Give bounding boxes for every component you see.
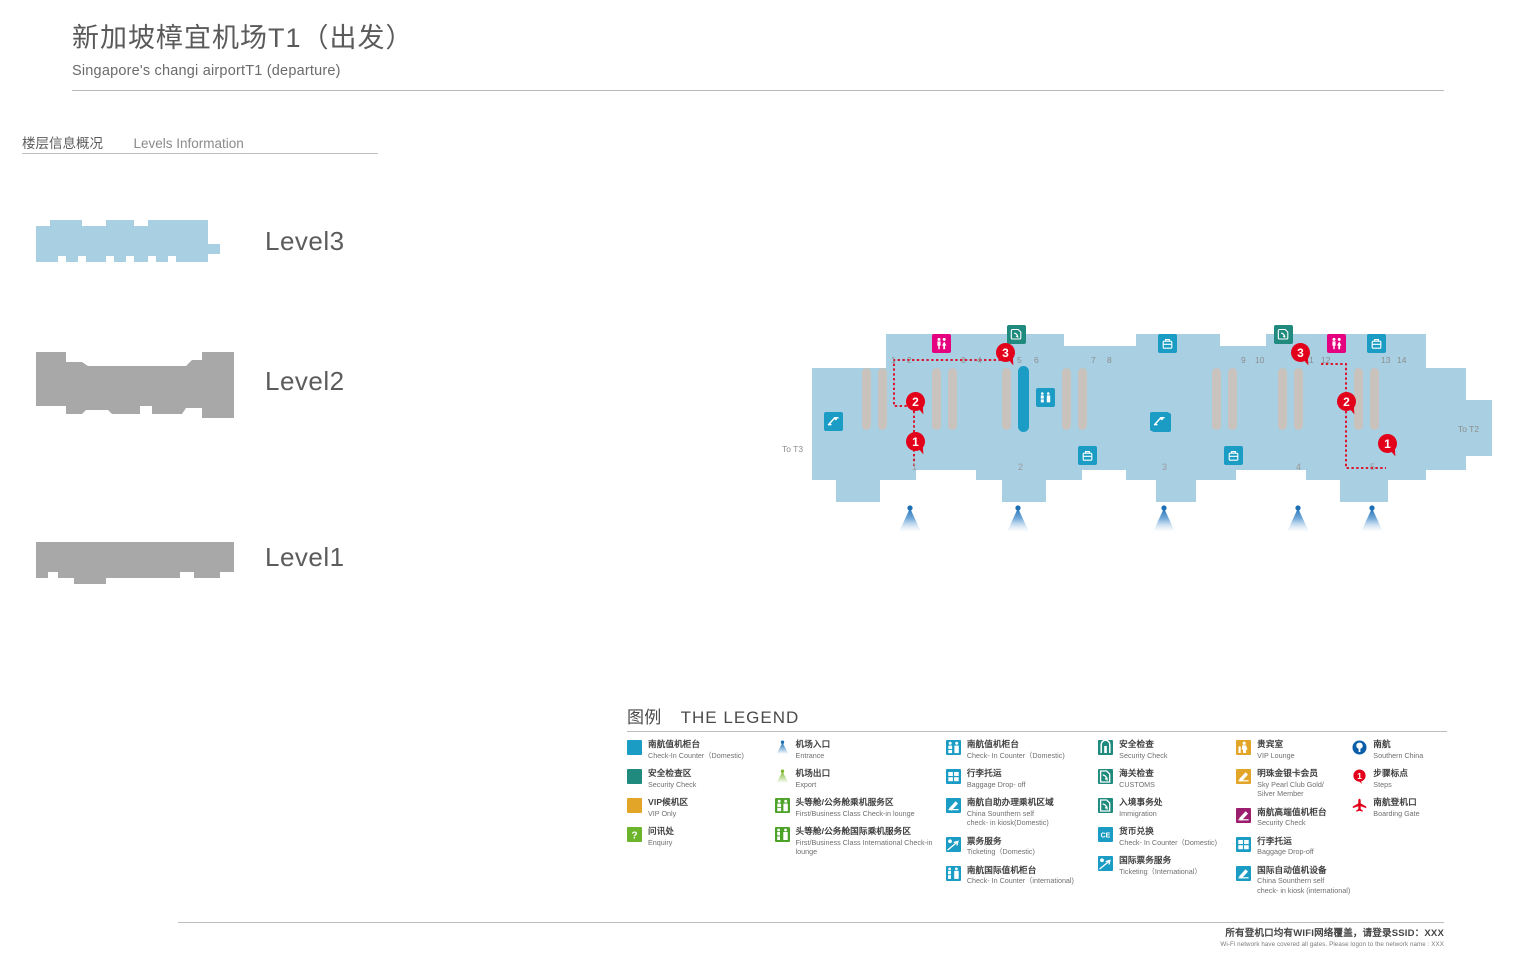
legend-item-label-en: Security Check	[648, 780, 696, 789]
legend-item-label-en: Check- In Counter（Domestic)	[967, 751, 1065, 760]
legend-title-cn: 图例	[627, 708, 662, 727]
boarding-gate-icon	[1352, 798, 1367, 813]
legend-item-label-cn: 国际票务服务	[1119, 855, 1201, 866]
vip-lounge-icon	[1236, 740, 1251, 755]
legend-item[interactable]: 机场入口Entrance	[775, 739, 946, 760]
levels-section-heading: 楼层信息概况 Levels Information	[22, 132, 378, 153]
legend-item-text: 国际自动值机设备China Sounthern self check- in k…	[1257, 865, 1350, 895]
legend-item-text: 国际票务服务Ticketing（International）	[1119, 855, 1201, 876]
legend-item-label-en: China Sounthern self check- in kiosk(Dom…	[967, 809, 1054, 828]
legend-item[interactable]: 行李托运Baggage Drop- off	[946, 768, 1098, 789]
legend-item[interactable]: 南航国际值机柜台Check- In Counter（international)	[946, 865, 1098, 886]
entrance-icon	[775, 740, 790, 755]
counter-label-3: 3	[961, 355, 966, 365]
counter-label-1: 1	[891, 355, 896, 365]
legend-item[interactable]: 安全检查Security Check	[1098, 739, 1236, 760]
toilet-icon[interactable]	[932, 334, 951, 353]
legend-item-text: 明珠金银卡会员Sky Pearl Club Gold/ Silver Membe…	[1257, 768, 1324, 798]
entrance-arrow-group	[899, 505, 1383, 532]
header-divider	[72, 90, 1444, 91]
legend-item[interactable]: 南航Southern China	[1352, 739, 1457, 760]
legend-column-2: 机场入口Entrance机场出口Export头等舱/公务舱乘机服务区First/…	[775, 739, 946, 903]
legend-item-label-en: VIP Only	[648, 809, 688, 818]
counter-label-7: 7	[1091, 355, 1096, 365]
legend-item[interactable]: CE货币兑换Check- In Counter（Domestic)	[1098, 826, 1236, 847]
legend-item-label-cn: 海关检查	[1119, 768, 1155, 779]
legend-item[interactable]: 国际自动值机设备China Sounthern self check- in k…	[1236, 865, 1352, 895]
wifi-notice-en: Wi-Fi network have covered all gates. Pl…	[1220, 941, 1444, 948]
counter-label-14: 14	[1397, 355, 1406, 365]
steps-marker-icon: 1	[1352, 769, 1367, 784]
legend-column-3: 南航值机柜台Check- In Counter（Domestic)行李托运Bag…	[946, 739, 1098, 903]
counter-label-5: 5	[1017, 355, 1022, 365]
legend-item-label-cn: 行李托运	[1257, 836, 1314, 847]
legend-item-text: 票务服务Ticketing（Domestic)	[967, 836, 1035, 857]
door-label-2: 2	[1018, 462, 1023, 472]
wifi-notice-cn: 所有登机口均有WIFI网络覆盖，请登录SSID：XXX	[1220, 925, 1444, 939]
legend-item-text: 行李托运Baggage Drop- off	[967, 768, 1026, 789]
legend-item-label-cn: 明珠金银卡会员	[1257, 768, 1324, 779]
to-t3-label: To T3	[782, 444, 803, 454]
route-step-marker-1-right[interactable]: 1	[1378, 434, 1397, 453]
legend-item-text: VIP候机区VIP Only	[648, 797, 688, 818]
legend-item-label-en: Security Check	[1119, 751, 1167, 760]
export-icon	[775, 769, 790, 784]
legend-item-label-cn: 南航高端值机柜台	[1257, 807, 1327, 818]
legend-item-label-en: Sky Pearl Club Gold/ Silver Member	[1257, 780, 1324, 799]
level-3-floorplate	[30, 216, 242, 274]
terminal-floor-map[interactable]: 1 2 3 4 5 6 7 8 9 10 11 12 13 14 1 2 3 4…	[806, 320, 1496, 535]
southern-china-logo-icon	[1352, 740, 1367, 755]
legend-item[interactable]: 头等舱/公务舱国际乘机服务区First/Business Class Inter…	[775, 826, 946, 856]
legend-item-label-en: Ticketing（Domestic)	[967, 847, 1035, 856]
route-step-marker-3-right[interactable]: 3	[1291, 343, 1310, 362]
baggage-drop-icon-bottom-2[interactable]	[1224, 446, 1243, 465]
legend-item-label-en: CUSTOMS	[1119, 780, 1155, 789]
legend-item-label-en: Entrance	[796, 751, 831, 760]
legend-item-label-cn: 问讯处	[648, 826, 674, 837]
legend-item-text: 头等舱/公务舱国际乘机服务区First/Business Class Inter…	[796, 826, 946, 856]
check-in-counter-icon	[946, 740, 961, 755]
legend-item-label-en: First/Business Class Check-in lounge	[796, 809, 915, 818]
highlighted-counter-6	[1018, 366, 1029, 432]
wifi-notice: 所有登机口均有WIFI网络覆盖，请登录SSID：XXX Wi-Fi networ…	[1220, 925, 1444, 948]
escalator-icon-left[interactable]	[824, 412, 843, 431]
legend-item-label-en: China Sounthern self check- in kiosk (in…	[1257, 876, 1350, 895]
legend-item[interactable]: 国际票务服务Ticketing（International）	[1098, 855, 1236, 876]
legend-item[interactable]: 贵宾室VIP Lounge	[1236, 739, 1352, 760]
footer-divider	[178, 922, 1444, 923]
route-step-marker-3-left[interactable]: 3	[996, 343, 1015, 362]
counter-label-13: 13	[1381, 355, 1390, 365]
legend-title-en: THE LEGEND	[681, 708, 800, 727]
level-1-diagram[interactable]: Level1	[30, 536, 242, 588]
legend-item-label-en: Boarding Gate	[1373, 809, 1419, 818]
legend-item[interactable]: ?问讯处Enquiry	[627, 826, 775, 847]
counter-label-12: 12	[1321, 355, 1330, 365]
level-3-diagram[interactable]: Level3	[30, 216, 242, 274]
levels-heading-cn: 楼层信息概况	[22, 132, 103, 152]
level-3-label: Level3	[265, 226, 345, 257]
door-label-5: 5	[1370, 462, 1375, 472]
door-label-3: 3	[1162, 462, 1167, 472]
airport-map-page: 新加坡樟宜机场T1（出发） Singapore's changi airport…	[0, 0, 1516, 964]
legend-item-text: 南航值机柜台Check- In Counter（Domestic)	[967, 739, 1065, 760]
legend-item-text: 南航国际值机柜台Check- In Counter（international)	[967, 865, 1074, 886]
legend-item-label-cn: 步骤标点	[1373, 768, 1408, 779]
first-business-intl-checkin-icon	[775, 827, 790, 842]
route-step-marker-2-right[interactable]: 2	[1337, 392, 1356, 411]
baggage-drop-icon-top[interactable]	[1158, 334, 1177, 353]
legend-item[interactable]: 南航值机柜台Check-In Counter（Domestic)	[627, 739, 775, 760]
legend-item-label-cn: 南航国际值机柜台	[967, 865, 1074, 876]
legend-item-text: 南航Southern China	[1373, 739, 1423, 760]
first-business-checkin-icon	[775, 798, 790, 813]
check-in-counter-swatch	[627, 740, 642, 755]
svg-text:?: ?	[631, 831, 637, 842]
legend-item-label-en: Security Check	[1257, 818, 1327, 827]
legend-item[interactable]: VIP候机区VIP Only	[627, 797, 775, 818]
immigration-icon	[1098, 798, 1113, 813]
currency-exchange-icon: CE	[1098, 827, 1113, 842]
legend-divider	[627, 731, 1447, 732]
intl-self-checkin-icon	[1236, 866, 1251, 881]
intl-check-in-counter-icon	[946, 866, 961, 881]
legend-item-text: 问讯处Enquiry	[648, 826, 674, 847]
legend-columns: 南航值机柜台Check-In Counter（Domestic)安全检查区Sec…	[627, 739, 1457, 903]
enquiry-icon: ?	[627, 827, 642, 842]
legend-item-text: 入境事务处Immigration	[1119, 797, 1162, 818]
customs-icon[interactable]	[1007, 325, 1026, 344]
level-2-label: Level2	[265, 366, 345, 397]
legend-item-label-cn: 南航自助办理乘机区域	[967, 797, 1054, 808]
security-check-icon	[1098, 740, 1113, 755]
counter-label-2: 2	[907, 355, 912, 365]
legend-item-label-en: Check- In Counter（international)	[967, 876, 1074, 885]
svg-text:1: 1	[1357, 771, 1362, 781]
legend-item-text: 步骤标点Steps	[1373, 768, 1408, 789]
legend-item[interactable]: 南航登机口Boarding Gate	[1352, 797, 1457, 818]
legend-item-text: 头等舱/公务舱乘机服务区First/Business Class Check-i…	[796, 797, 915, 818]
legend-item-label-cn: 机场出口	[796, 768, 831, 779]
sky-pearl-club-icon	[1236, 769, 1251, 784]
counter-label-8: 8	[1107, 355, 1112, 365]
self-checkin-kiosk-icon	[946, 798, 961, 813]
legend-item-text: 安全检查Security Check	[1119, 739, 1167, 760]
legend-item-text: 南航值机柜台Check-In Counter（Domestic)	[648, 739, 744, 760]
legend-item-label-cn: 头等舱/公务舱国际乘机服务区	[796, 826, 946, 837]
legend-item-text: 货币兑换Check- In Counter（Domestic)	[1119, 826, 1217, 847]
legend-item-label-cn: 入境事务处	[1119, 797, 1162, 808]
counter-label-4: 4	[977, 355, 982, 365]
legend-item-text: 南航高端值机柜台Security Check	[1257, 807, 1327, 828]
legend-item-label-cn: 票务服务	[967, 836, 1035, 847]
customs-icon	[1098, 769, 1113, 784]
legend-item-label-cn: VIP候机区	[648, 797, 688, 808]
security-check-swatch	[627, 769, 642, 784]
legend-item[interactable]: 行李托运Baggage Drop-off	[1236, 836, 1352, 857]
legend-item-label-en: Ticketing（International）	[1119, 867, 1201, 876]
legend-item-label-cn: 安全检查	[1119, 739, 1167, 750]
legend-column-6: 南航Southern China1步骤标点Steps南航登机口Boarding …	[1352, 739, 1457, 903]
legend-item-label-en: Check- In Counter（Domestic)	[1119, 838, 1217, 847]
legend-item-label-en: Enquiry	[648, 838, 674, 847]
legend-item-label-en: Steps	[1373, 780, 1408, 789]
premium-check-in-icon	[1236, 808, 1251, 823]
legend-item-text: 行李托运Baggage Drop-off	[1257, 836, 1314, 857]
legend-item-label-en: Export	[796, 780, 831, 789]
legend-item-text: 贵宾室VIP Lounge	[1257, 739, 1294, 760]
svg-text:CE: CE	[1101, 833, 1111, 840]
levels-divider	[22, 153, 378, 154]
door-label-4: 4	[1296, 462, 1301, 472]
legend-item-label-cn: 机场入口	[796, 739, 831, 750]
legend-item-label-cn: 南航登机口	[1373, 797, 1419, 808]
intl-ticketing-icon	[1098, 856, 1113, 871]
to-t2-label: To T2	[1458, 424, 1479, 434]
legend-item-label-cn: 行李托运	[967, 768, 1026, 779]
counter-label-9: 9	[1241, 355, 1246, 365]
legend-title-block: 图例 THE LEGEND	[627, 703, 1447, 728]
legend-item-label-cn: 头等舱/公务舱乘机服务区	[796, 797, 915, 808]
legend-item-text: 南航自助办理乘机区域China Sounthern self check- in…	[967, 797, 1054, 827]
route-step-marker-2-left[interactable]: 2	[906, 392, 925, 411]
legend-item[interactable]: 机场出口Export	[775, 768, 946, 789]
escalator-icon-centre[interactable]	[1150, 412, 1169, 431]
legend-item[interactable]: 明珠金银卡会员Sky Pearl Club Gold/ Silver Membe…	[1236, 768, 1352, 798]
counter-label-10: 10	[1255, 355, 1264, 365]
legend-item-label-cn: 国际自动值机设备	[1257, 865, 1350, 876]
legend-item-text: 南航登机口Boarding Gate	[1373, 797, 1419, 818]
check-in-counter-icon[interactable]	[1036, 388, 1055, 407]
legend-item-label-cn: 货币兑换	[1119, 826, 1217, 837]
legend-item-label-en: Baggage Drop- off	[967, 780, 1026, 789]
legend-item-label-cn: 南航值机柜台	[967, 739, 1065, 750]
level-1-floorplate	[30, 536, 242, 588]
legend-item-label-en: Check-In Counter（Domestic)	[648, 751, 744, 760]
legend-item-text: 机场出口Export	[796, 768, 831, 789]
legend-item-label-en: Southern China	[1373, 751, 1423, 760]
baggage-drop-icon	[946, 769, 961, 784]
vip-only-swatch	[627, 798, 642, 813]
legend-item-label-en: First/Business Class International Check…	[796, 838, 946, 857]
levels-heading-en: Levels Information	[133, 136, 243, 151]
legend-item-label-cn: 安全检查区	[648, 768, 696, 779]
legend-item-label-cn: 南航	[1373, 739, 1423, 750]
legend-item-label-en: Immigration	[1119, 809, 1162, 818]
legend-item[interactable]: 票务服务Ticketing（Domestic)	[946, 836, 1098, 857]
legend-item-text: 机场入口Entrance	[796, 739, 831, 760]
legend-item[interactable]: 头等舱/公务舱乘机服务区First/Business Class Check-i…	[775, 797, 946, 818]
legend-item-label-cn: 南航值机柜台	[648, 739, 744, 750]
counter-label-6: 6	[1034, 355, 1039, 365]
baggage-drop-icon-right-top[interactable]	[1367, 334, 1386, 353]
legend-item[interactable]: 南航自助办理乘机区域China Sounthern self check- in…	[946, 797, 1098, 827]
legend-item-label-en: Baggage Drop-off	[1257, 847, 1314, 856]
route-step-marker-1-left[interactable]: 1	[906, 432, 925, 451]
baggage-drop-icon-bottom-1[interactable]	[1078, 446, 1097, 465]
legend-item[interactable]: 海关检查CUSTOMS	[1098, 768, 1236, 789]
door-label-1: 1	[912, 462, 917, 472]
legend-item[interactable]: 安全检查区Security Check	[627, 768, 775, 789]
page-title-cn: 新加坡樟宜机场T1（出发）	[72, 22, 1444, 56]
legend-item-label-cn: 贵宾室	[1257, 739, 1294, 750]
level-2-floorplate	[30, 340, 242, 430]
legend-column-5: 贵宾室VIP Lounge明珠金银卡会员Sky Pearl Club Gold/…	[1236, 739, 1352, 903]
customs-icon-right[interactable]	[1274, 325, 1293, 344]
page-title-en: Singapore's changi airportT1 (departure)	[72, 63, 1444, 79]
toilet-icon-right[interactable]	[1327, 334, 1346, 353]
ticketing-icon	[946, 837, 961, 852]
legend-item[interactable]: 南航值机柜台Check- In Counter（Domestic)	[946, 739, 1098, 760]
legend-column-4: 安全检查Security Check海关检查CUSTOMS入境事务处Immigr…	[1098, 739, 1236, 903]
legend-item[interactable]: 入境事务处Immigration	[1098, 797, 1236, 818]
legend-item[interactable]: 南航高端值机柜台Security Check	[1236, 807, 1352, 828]
page-header: 新加坡樟宜机场T1（出发） Singapore's changi airport…	[72, 22, 1444, 79]
legend-item-text: 安全检查区Security Check	[648, 768, 696, 789]
legend-item[interactable]: 1步骤标点Steps	[1352, 768, 1457, 789]
legend-column-1: 南航值机柜台Check-In Counter（Domestic)安全检查区Sec…	[627, 739, 775, 903]
level-2-diagram[interactable]: Level2	[30, 340, 242, 430]
legend-item-text: 海关检查CUSTOMS	[1119, 768, 1155, 789]
legend-item-label-en: VIP Lounge	[1257, 751, 1294, 760]
baggage-drop-icon	[1236, 837, 1251, 852]
level-1-label: Level1	[265, 542, 345, 573]
